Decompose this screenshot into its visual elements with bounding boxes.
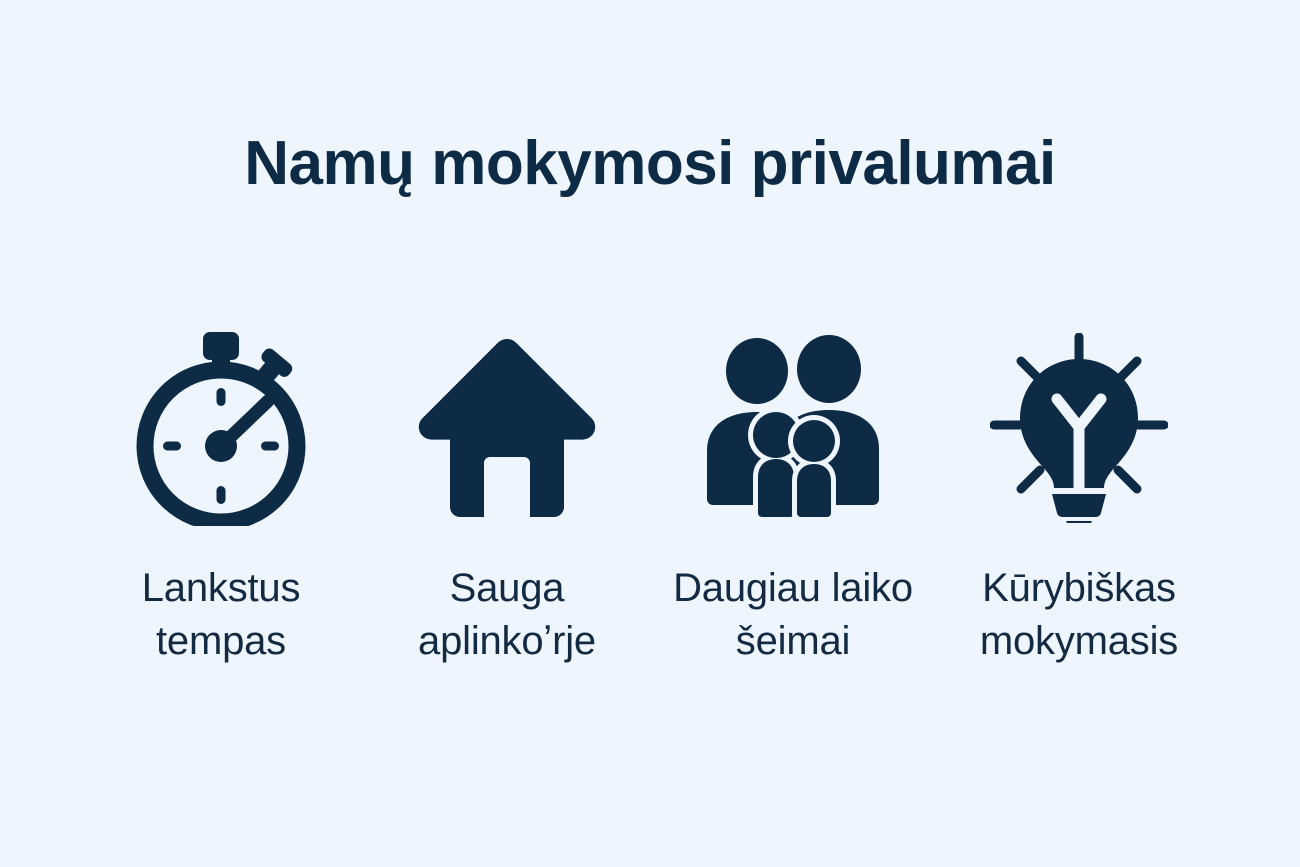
- family-icon: [693, 325, 893, 530]
- benefit-label-line-1: Kūrybiškas: [980, 562, 1178, 615]
- benefit-card-creative-learning: Kūrybiškas mokymasis: [936, 325, 1222, 668]
- benefit-label-line-2: aplinkoʼrje: [418, 615, 596, 668]
- benefit-card-row: Lankstus tempas Sauga aplinkoʼrje: [78, 325, 1222, 668]
- benefit-label-line-1: Sauga: [418, 562, 596, 615]
- benefit-label-line-1: Daugiau laiko: [673, 562, 913, 615]
- benefit-card-safe-environment: Sauga aplinkoʼrje: [364, 325, 650, 668]
- benefit-card-family-time: Daugiau laiko šeimai: [650, 325, 936, 668]
- house-icon: [407, 325, 607, 530]
- benefit-label: Kūrybiškas mokymasis: [980, 562, 1178, 668]
- benefit-label: Daugiau laiko šeimai: [673, 562, 913, 668]
- benefit-card-flexible-pace: Lankstus tempas: [78, 325, 364, 668]
- benefit-label-line-2: tempas: [142, 615, 301, 668]
- lightbulb-icon: [979, 325, 1179, 530]
- page-title: Namų mokymosi privalumai: [0, 131, 1300, 196]
- benefit-label: Lankstus tempas: [142, 562, 301, 668]
- benefit-label-line-2: šeimai: [673, 615, 913, 668]
- benefit-label-line-1: Lankstus: [142, 562, 301, 615]
- benefit-label-line-2: mokymasis: [980, 615, 1178, 668]
- stopwatch-icon: [121, 325, 321, 530]
- infographic-canvas: Namų mokymosi privalumai: [0, 0, 1300, 867]
- benefit-label: Sauga aplinkoʼrje: [418, 562, 596, 668]
